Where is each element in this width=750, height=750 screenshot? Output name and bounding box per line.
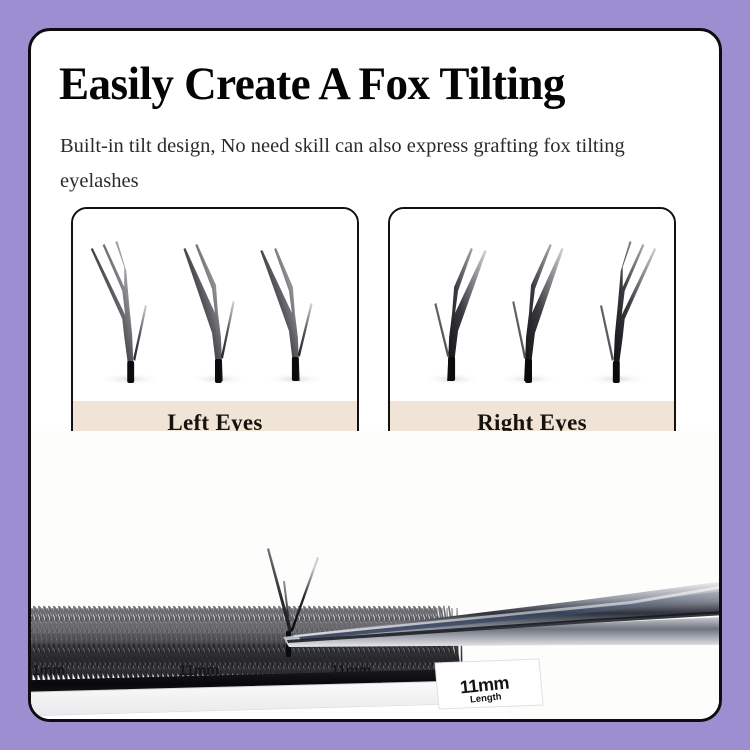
poster-card: Easily Create A Fox Tilting Built-in til… [28, 28, 722, 722]
product-photo: 11mm 11mm 11mm 11mm Length [31, 431, 722, 722]
poster-background: Easily Create A Fox Tilting Built-in til… [0, 0, 750, 750]
lash-fan-illustration-right [390, 209, 674, 405]
panel-right-eyes: Right Eyes [388, 207, 676, 447]
panel-left-eyes: Left Eyes [71, 207, 359, 447]
page-subtitle: Built-in tilt design, No need skill can … [60, 129, 670, 200]
page-title: Easily Create A Fox Tilting [59, 61, 673, 108]
comparison-panels: Left Eyes [31, 207, 722, 449]
lash-fan-illustration-left [73, 209, 357, 405]
